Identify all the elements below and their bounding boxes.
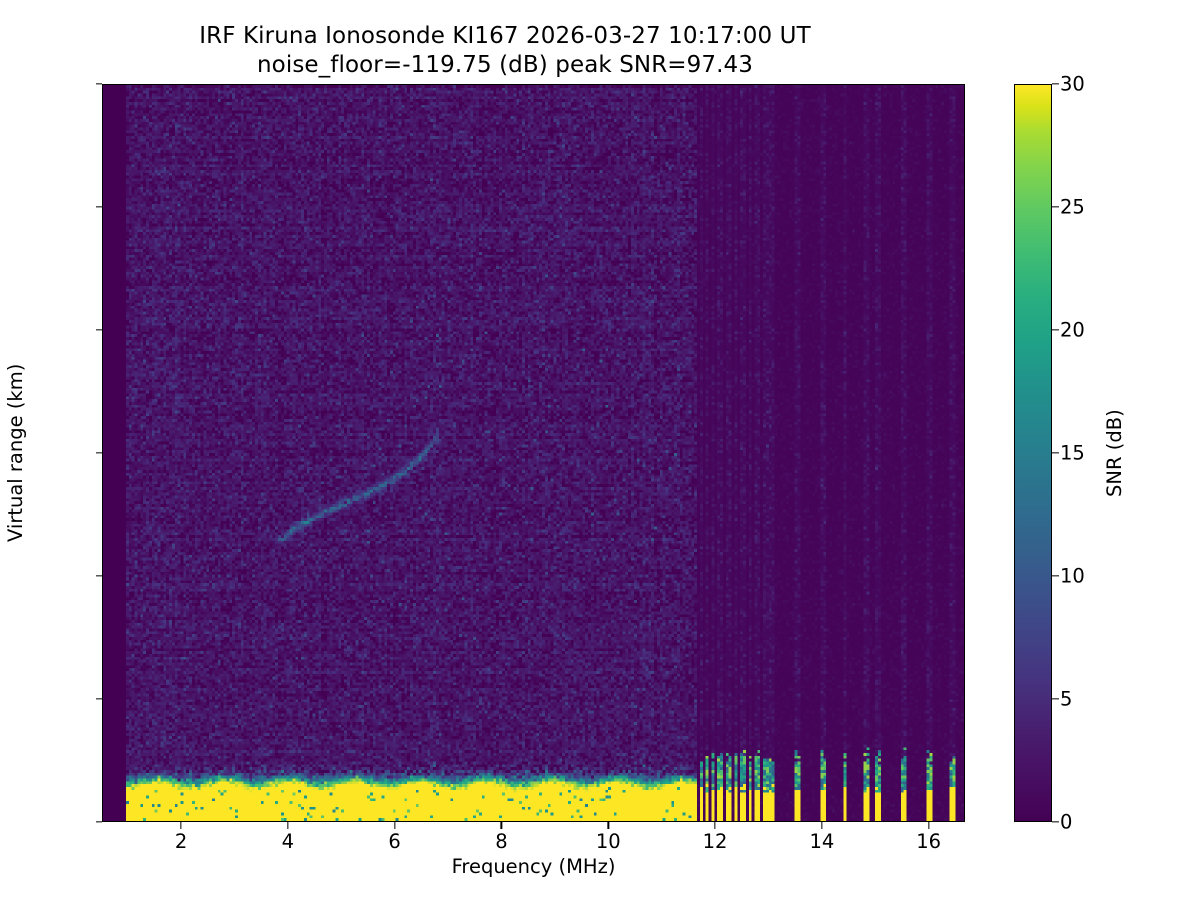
colorbar-gradient[interactable] <box>1014 84 1052 822</box>
colorbar-tick-mark <box>1052 821 1059 822</box>
x-tick-label: 4 <box>282 830 294 853</box>
colorbar-tick-label: 15 <box>1060 442 1085 465</box>
x-tick-mark <box>821 822 822 829</box>
y-tick-mark <box>96 452 103 453</box>
colorbar-tick-label: 30 <box>1060 73 1085 96</box>
y-tick-mark <box>96 83 103 84</box>
x-axis-label: Frequency (MHz) <box>102 855 965 878</box>
x-tick-mark <box>714 822 715 829</box>
y-tick-mark <box>96 329 103 330</box>
colorbar-tick-label: 5 <box>1060 688 1072 711</box>
colorbar-tick-label: 10 <box>1060 565 1085 588</box>
x-tick-label: 14 <box>809 830 834 853</box>
x-tick-label: 2 <box>175 830 187 853</box>
x-tick-label: 10 <box>596 830 621 853</box>
colorbar-tick-mark <box>1052 698 1059 699</box>
ionogram-figure: IRF Kiruna Ionosonde KI167 2026-03-27 10… <box>0 0 1200 900</box>
ionogram-heatmap <box>103 85 964 821</box>
colorbar-tick-mark <box>1052 452 1059 453</box>
heatmap-canvas-holder <box>103 85 964 821</box>
x-tick-mark <box>180 822 181 829</box>
title-line-2: noise_floor=-119.75 (dB) peak SNR=97.43 <box>0 51 1010 80</box>
x-tick-label: 6 <box>388 830 400 853</box>
colorbar-label: SNR (dB) <box>1103 409 1126 497</box>
x-tick-mark <box>608 822 609 829</box>
ionogram-plot-area[interactable] <box>102 84 965 822</box>
colorbar-tick-mark <box>1052 206 1059 207</box>
x-tick-mark <box>287 822 288 829</box>
x-tick-label: 8 <box>495 830 507 853</box>
y-tick-mark <box>96 698 103 699</box>
x-tick-mark <box>928 822 929 829</box>
colorbar-tick-mark <box>1052 329 1059 330</box>
colorbar-tick-label: 20 <box>1060 319 1085 342</box>
colorbar-tick-mark <box>1052 575 1059 576</box>
y-axis-label: Virtual range (km) <box>4 364 27 542</box>
x-tick-label: 16 <box>916 830 941 853</box>
y-tick-mark <box>96 206 103 207</box>
colorbar-tick-label: 0 <box>1060 811 1072 834</box>
y-tick-mark <box>96 821 103 822</box>
title-line-1: IRF Kiruna Ionosonde KI167 2026-03-27 10… <box>199 23 810 49</box>
colorbar-tick-label: 25 <box>1060 196 1085 219</box>
colorbar-tick-mark <box>1052 83 1059 84</box>
x-tick-label: 12 <box>703 830 728 853</box>
figure-title: IRF Kiruna Ionosonde KI167 2026-03-27 10… <box>0 22 1010 81</box>
y-tick-mark <box>96 575 103 576</box>
x-tick-mark <box>394 822 395 829</box>
x-tick-mark <box>501 822 502 829</box>
